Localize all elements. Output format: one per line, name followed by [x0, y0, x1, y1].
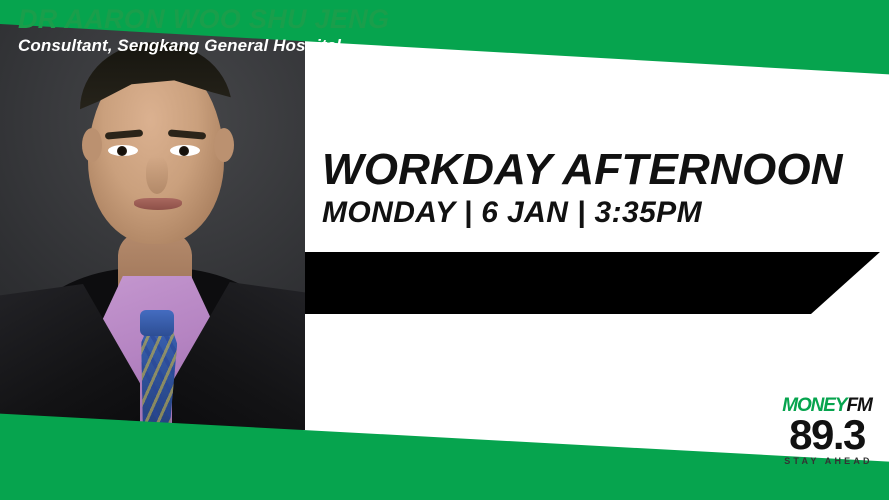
- portrait-ear-right: [214, 128, 234, 162]
- guest-name-banner: [305, 252, 880, 314]
- logo-tagline: STAY AHEAD: [773, 457, 881, 466]
- portrait-ear-left: [82, 128, 102, 162]
- broadcast-promo-graphic: WORKDAY AFTERNOON MONDAY | 6 JAN | 3:35P…: [0, 0, 889, 500]
- portrait-mouth: [134, 198, 182, 210]
- portrait-necktie-knot: [140, 310, 174, 336]
- portrait-eye-right: [170, 145, 200, 156]
- show-title-block: WORKDAY AFTERNOON MONDAY | 6 JAN | 3:35P…: [322, 148, 862, 228]
- show-title: WORKDAY AFTERNOON: [322, 148, 862, 193]
- guest-portrait-photo: [0, 0, 305, 430]
- logo-frequency: 89.3: [773, 414, 881, 456]
- station-logo: MONEYFM 89.3 STAY AHEAD: [773, 396, 881, 466]
- portrait-nose: [146, 156, 168, 194]
- guest-role: Consultant, Sengkang General Hospital: [18, 36, 341, 56]
- show-schedule: MONDAY | 6 JAN | 3:35PM: [322, 197, 862, 229]
- portrait-eye-left: [108, 145, 138, 156]
- guest-name: DR AARON WOO SHU JENG: [18, 4, 389, 35]
